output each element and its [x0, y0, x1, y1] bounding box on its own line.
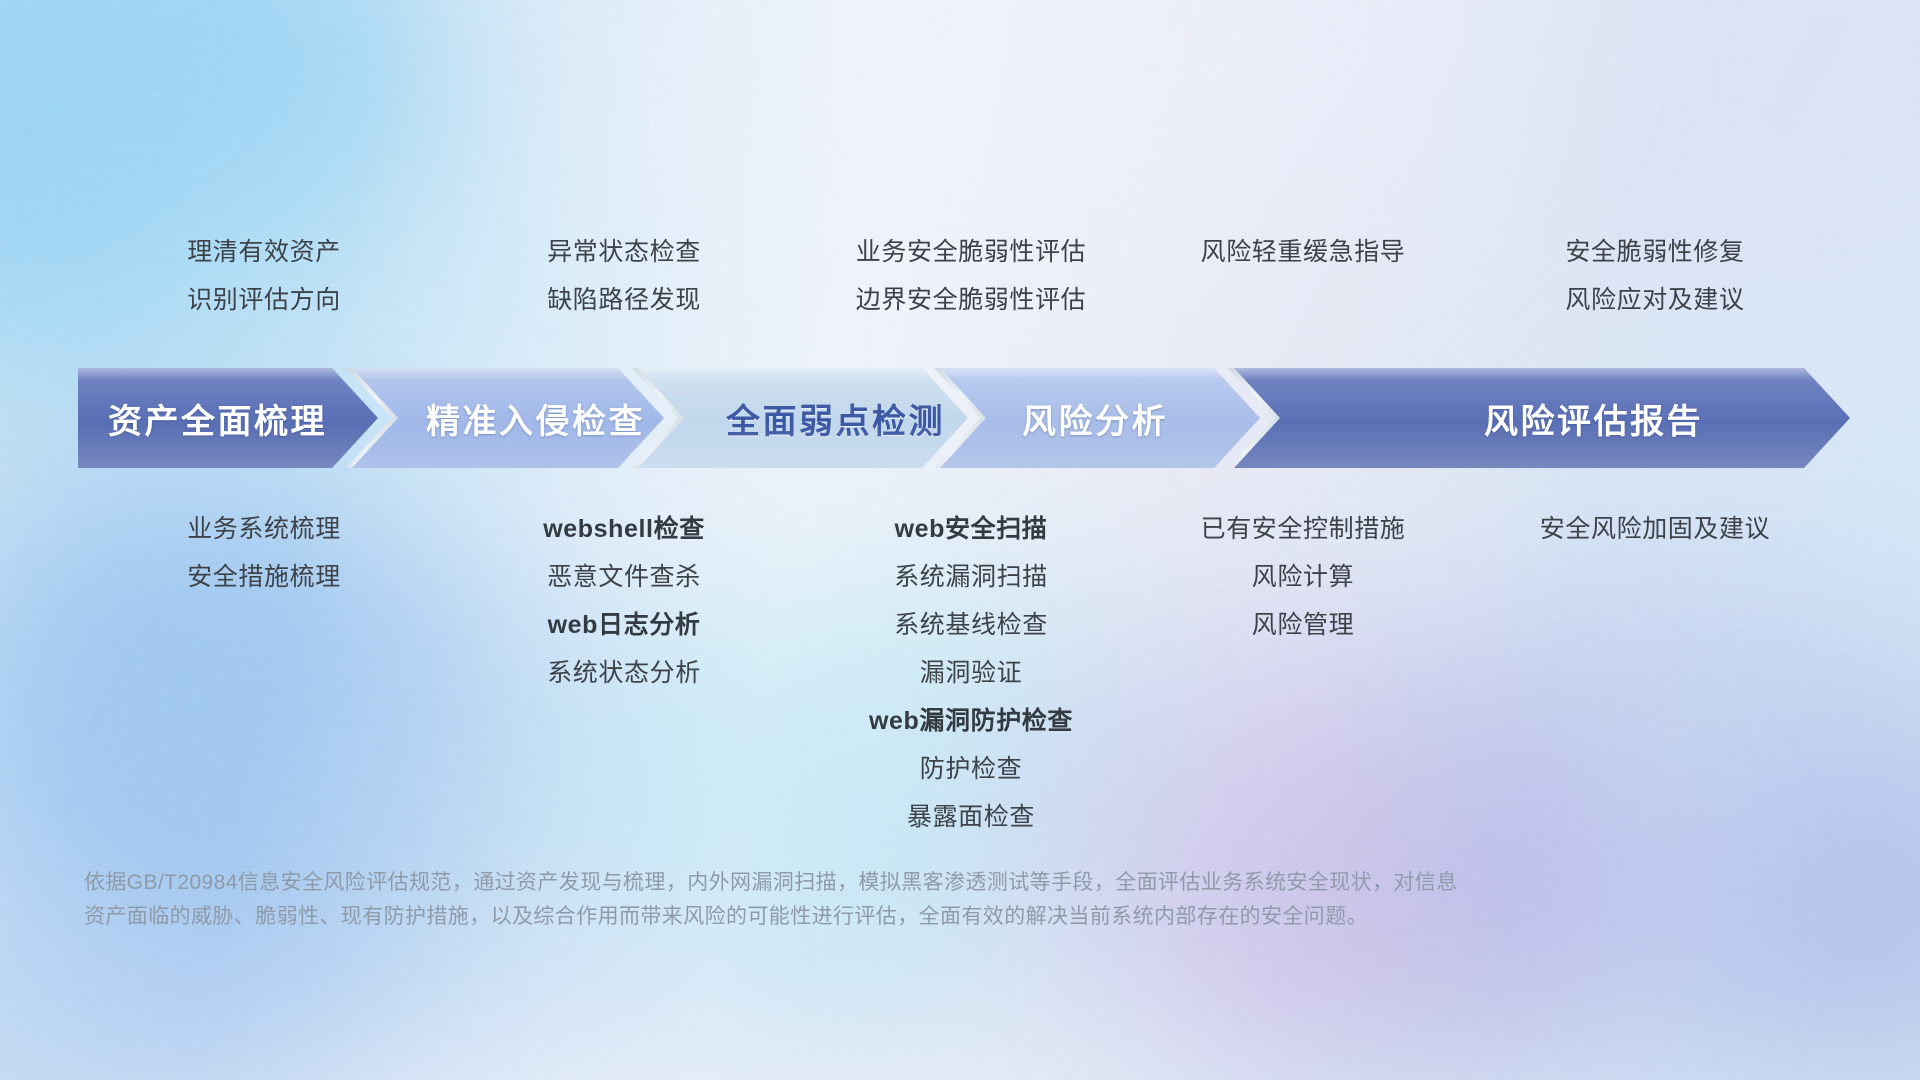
output-item: 恶意文件查杀: [547, 553, 701, 601]
output-item: webshell检查: [543, 505, 705, 553]
stage-arrow-risk-report[interactable]: 风险评估报告: [1234, 368, 1850, 468]
stage-arrow-band: 资产全面梳理 精准入侵检查 全面弱点检测 风险分析 风险评估报告: [78, 368, 1850, 468]
input-item: 识别评估方向: [187, 276, 341, 324]
stage-inputs-3: 业务安全脆弱性评估 边界安全脆弱性评估: [798, 228, 1144, 338]
stage-arrow-label: 资产全面梳理: [108, 394, 327, 443]
stage-inputs-row: 理清有效资产 识别评估方向 异常状态检查 缺陷路径发现 业务安全脆弱性评估 边界…: [78, 228, 1848, 338]
output-item: 系统状态分析: [547, 649, 701, 697]
output-item: 防护检查: [920, 745, 1022, 793]
stage-inputs-4: 风险轻重缓急指导: [1144, 228, 1462, 338]
stage-outputs-5: 安全风险加固及建议: [1462, 505, 1848, 835]
stage-outputs-1: 业务系统梳理 安全措施梳理: [78, 505, 450, 835]
output-item: web漏洞防护检查: [869, 697, 1073, 745]
output-item: 安全措施梳理: [187, 553, 341, 601]
stage-arrow-risk-analysis[interactable]: 风险分析: [940, 368, 1260, 468]
output-item: 漏洞验证: [920, 649, 1022, 697]
process-flow-diagram: 理清有效资产 识别评估方向 异常状态检查 缺陷路径发现 业务安全脆弱性评估 边界…: [0, 0, 1920, 1080]
output-item: 业务系统梳理: [187, 505, 341, 553]
output-item: web日志分析: [548, 601, 701, 649]
output-item: 安全风险加固及建议: [1540, 505, 1770, 553]
stage-inputs-2: 异常状态检查 缺陷路径发现: [450, 228, 798, 338]
stage-outputs-2: webshell检查 恶意文件查杀 web日志分析 系统状态分析: [450, 505, 798, 835]
stage-outputs-4: 已有安全控制措施 风险计算 风险管理: [1144, 505, 1462, 835]
input-item: 理清有效资产: [187, 228, 341, 276]
stage-arrow-label: 风险评估报告: [1484, 394, 1703, 443]
input-item: 风险应对及建议: [1565, 276, 1744, 324]
output-item: web安全扫描: [895, 505, 1048, 553]
stage-arrow-asset-inventory[interactable]: 资产全面梳理: [78, 368, 378, 468]
stage-inputs-5: 安全脆弱性修复 风险应对及建议: [1462, 228, 1848, 338]
output-item: 系统漏洞扫描: [894, 553, 1048, 601]
input-item: 异常状态检查: [547, 228, 701, 276]
stage-outputs-row: 业务系统梳理 安全措施梳理 webshell检查 恶意文件查杀 web日志分析 …: [78, 505, 1848, 835]
input-item: 风险轻重缓急指导: [1201, 228, 1406, 276]
stage-arrow-weakness-detection[interactable]: 全面弱点检测: [638, 368, 968, 468]
footer-line-1: 依据GB/T20984信息安全风险评估规范，通过资产发现与梳理，内外网漏洞扫描，…: [84, 866, 1844, 900]
output-item: 风险计算: [1252, 553, 1354, 601]
footer-line-2: 资产面临的威胁、脆弱性、现有防护措施，以及综合作用而带来风险的可能性进行评估，全…: [84, 900, 1844, 934]
output-item: 已有安全控制措施: [1201, 505, 1406, 553]
output-item: 风险管理: [1252, 601, 1354, 649]
input-item: 安全脆弱性修复: [1565, 228, 1744, 276]
input-item: 边界安全脆弱性评估: [856, 276, 1086, 324]
stage-arrow-label: 精准入侵检查: [426, 394, 645, 443]
output-item: 系统基线检查: [894, 601, 1048, 649]
footer-description: 依据GB/T20984信息安全风险评估规范，通过资产发现与梳理，内外网漏洞扫描，…: [84, 866, 1844, 934]
stage-inputs-1: 理清有效资产 识别评估方向: [78, 228, 450, 338]
stage-arrow-intrusion-check[interactable]: 精准入侵检查: [352, 368, 664, 468]
stage-outputs-3: web安全扫描 系统漏洞扫描 系统基线检查 漏洞验证 web漏洞防护检查 防护检…: [798, 505, 1144, 835]
output-item: 暴露面检查: [907, 793, 1035, 841]
input-item: 缺陷路径发现: [547, 276, 701, 324]
stage-arrow-label: 风险分析: [1022, 394, 1168, 443]
input-item: 业务安全脆弱性评估: [856, 228, 1086, 276]
stage-arrow-label: 全面弱点检测: [726, 394, 945, 443]
